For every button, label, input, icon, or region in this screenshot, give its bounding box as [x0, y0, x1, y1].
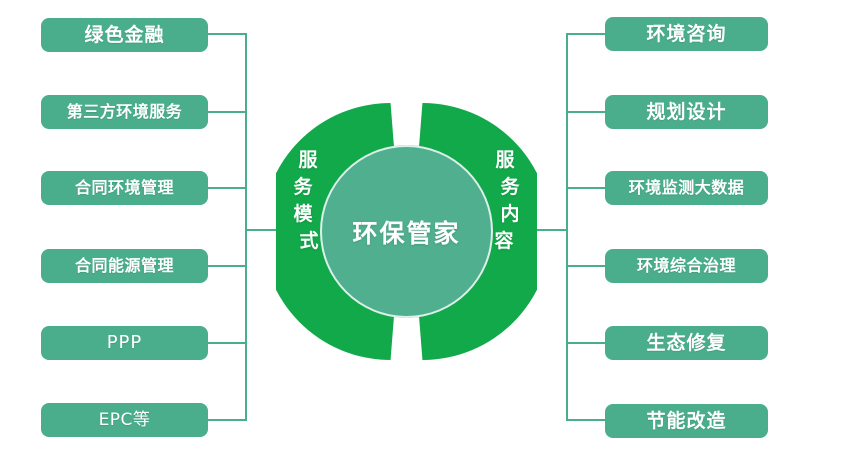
- hub-left-arc-glyph-2: 务: [288, 174, 318, 201]
- right-node-label-6: 节能改造: [646, 412, 726, 431]
- hub-left-arc-caption: 服 务 模 式: [287, 147, 317, 255]
- left-node-label-1: 绿色金融: [84, 26, 164, 45]
- hub-right-arc-glyph-2: 务: [495, 174, 525, 201]
- right-node-label-4: 环境综合治理: [637, 258, 736, 274]
- hub-right-arc-caption: 服 务 内 容: [496, 147, 526, 255]
- left-node-label-2: 第三方环境服务: [67, 104, 183, 120]
- right-node-label-3: 环境监测大数据: [629, 180, 745, 196]
- right-node-label-2: 规划设计: [646, 103, 726, 122]
- left-node-ppp[interactable]: PPP: [41, 326, 208, 360]
- hub-right-arc-glyph-4: 容: [489, 228, 519, 255]
- hub-left-arc-glyph-1: 服: [293, 147, 323, 174]
- hub-left-arc-glyph-3: 模: [288, 201, 318, 228]
- hub-core-label: 环保管家: [352, 214, 460, 250]
- right-node-energy-saving-retrofit[interactable]: 节能改造: [605, 404, 768, 438]
- left-node-contract-energy-management[interactable]: 合同能源管理: [41, 249, 208, 283]
- left-node-epc[interactable]: EPC等: [41, 403, 208, 437]
- right-node-environmental-consulting[interactable]: 环境咨询: [605, 17, 768, 51]
- hub-right-arc-glyph-3: 内: [495, 201, 525, 228]
- right-node-integrated-environmental-governance[interactable]: 环境综合治理: [605, 249, 768, 283]
- diagram-canvas: 服 务 模 式 服 务 内 容 环保管家 绿色金融 第三方环境服务 合同环境管理…: [0, 0, 848, 459]
- hub-core-circle: 环保管家: [320, 145, 493, 318]
- right-node-environmental-monitoring-big-data[interactable]: 环境监测大数据: [605, 171, 768, 205]
- right-node-planning-design[interactable]: 规划设计: [605, 95, 768, 129]
- hub-right-arc-glyph-1: 服: [490, 147, 520, 174]
- right-node-ecological-restoration[interactable]: 生态修复: [605, 326, 768, 360]
- left-node-green-finance[interactable]: 绿色金融: [41, 18, 208, 52]
- left-node-label-5: PPP: [107, 334, 143, 352]
- left-node-contract-environment-management[interactable]: 合同环境管理: [41, 171, 208, 205]
- right-node-label-5: 生态修复: [646, 334, 726, 353]
- left-node-third-party-environmental-service[interactable]: 第三方环境服务: [41, 95, 208, 129]
- left-node-label-4: 合同能源管理: [75, 258, 174, 274]
- left-node-label-3: 合同环境管理: [75, 180, 174, 196]
- right-node-label-1: 环境咨询: [646, 25, 726, 44]
- center-hub: 服 务 模 式 服 务 内 容 环保管家: [276, 101, 537, 362]
- left-node-label-6: EPC等: [99, 412, 151, 429]
